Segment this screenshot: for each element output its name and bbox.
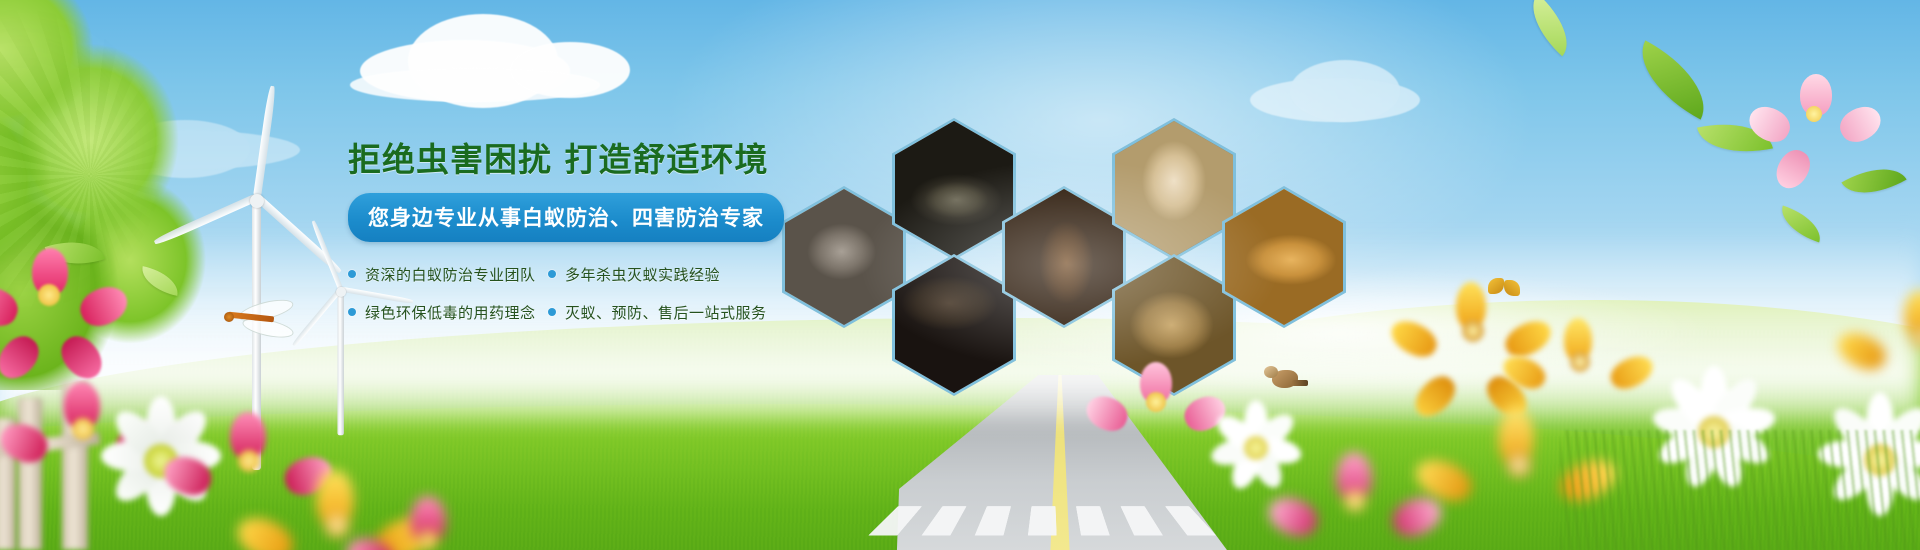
- yellow-flower: [1860, 290, 1920, 400]
- bullet-dot-icon: [548, 270, 556, 278]
- hex-mosquito[interactable]: [892, 254, 1016, 396]
- pest-control-banner: 拒绝虫害困扰 打造舒适环境 您身边专业从事白蚁防治、四害防治专家 资深的白蚁防治…: [0, 0, 1920, 550]
- pink-cosmos-flower: [0, 248, 104, 344]
- list-item: 灭蚁、预防、售后一站式服务: [548, 302, 758, 323]
- hex-termite-soldier[interactable]: [1222, 186, 1346, 328]
- subtitle-pill: 您身边专业从事白蚁防治、四害防治专家: [348, 193, 784, 242]
- bird-icon: [1262, 362, 1308, 396]
- bullet-dot-icon: [348, 308, 356, 316]
- pink-flower: [1290, 452, 1420, 550]
- feature-bullet-list: 资深的白蚁防治专业团队 多年杀虫灭蚁实践经验 绿色环保低毒的用药理念 灭蚁、预防…: [348, 264, 818, 323]
- bullet-dot-icon: [348, 270, 356, 278]
- bullet-label: 绿色环保低毒的用药理念: [365, 302, 536, 323]
- grass-foreground: [1560, 430, 1920, 550]
- banner-text-block: 拒绝虫害困扰 打造舒适环境 您身边专业从事白蚁防治、四害防治专家 资深的白蚁防治…: [348, 140, 818, 323]
- dragonfly-icon: [222, 300, 302, 344]
- list-item: 绿色环保低毒的用药理念: [348, 302, 548, 323]
- hex-cockroach[interactable]: [1002, 186, 1126, 328]
- crosswalk-stripes: [862, 504, 1239, 536]
- hex-termite-nest[interactable]: [1112, 118, 1236, 260]
- blossom-flower: [1770, 74, 1860, 154]
- list-item: 多年杀虫灭蚁实践经验: [548, 264, 758, 285]
- yellow-flower: [1522, 318, 1632, 418]
- pink-flower: [368, 496, 488, 550]
- hex-housefly[interactable]: [892, 118, 1016, 260]
- bullet-dot-icon: [548, 308, 556, 316]
- bullet-label: 多年杀虫灭蚁实践经验: [565, 264, 720, 285]
- pink-cosmos-flower: [1108, 362, 1204, 446]
- bullet-label: 资深的白蚁防治专业团队: [365, 264, 536, 285]
- list-item: 资深的白蚁防治专业团队: [348, 264, 548, 285]
- bullet-label: 灭蚁、预防、售后一站式服务: [565, 302, 767, 323]
- page-title: 拒绝虫害困扰 打造舒适环境: [348, 140, 818, 180]
